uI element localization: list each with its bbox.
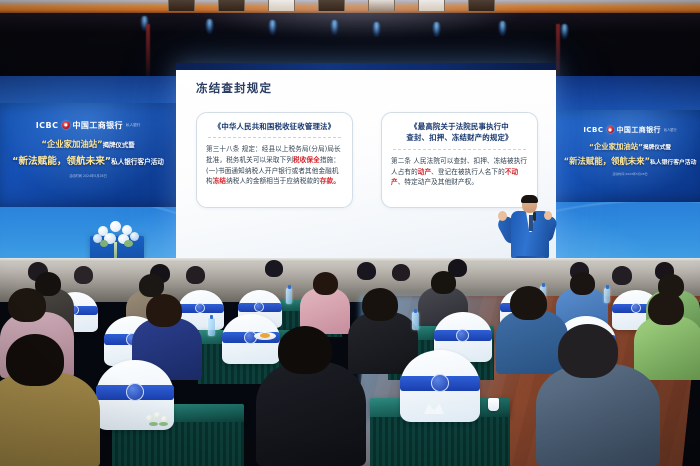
icbc-emblem-icon bbox=[607, 126, 614, 133]
audience-torso bbox=[0, 372, 100, 466]
ceiling-downlight bbox=[432, 22, 441, 37]
slide-card-tax-law: 《中华人民共和国税收征收管理法》 第三十八条 规定：经县以上税务局(分局)局长批… bbox=[196, 112, 353, 208]
right-event-banner: ICBC 中国工商银行 私人银行 “企业家加油站”揭牌仪式暨 “新法赋能，领航未… bbox=[548, 110, 700, 202]
audience-head bbox=[357, 262, 376, 280]
slide-top-bar bbox=[176, 63, 556, 70]
audience-head bbox=[558, 324, 618, 378]
body-run: 在被执行人名下的 bbox=[451, 168, 505, 176]
table-flower-posy bbox=[144, 412, 170, 426]
audience-head bbox=[431, 271, 456, 294]
icbc-sub-text: 私人银行 bbox=[664, 127, 677, 132]
banner-line-1-rest: 揭牌仪式暨 bbox=[643, 145, 671, 151]
banner-date: 活动时间 2024年5月28日 bbox=[69, 173, 107, 178]
water-bottle bbox=[208, 318, 215, 336]
ceiling-panel bbox=[218, 0, 245, 11]
foliage bbox=[149, 422, 158, 426]
banner-line-2-quoted: “新法赋能，领航未来” bbox=[12, 156, 111, 167]
audience-head bbox=[362, 288, 398, 321]
card-heading-line-1: 《最高院关于法院民事执行中 bbox=[391, 121, 528, 132]
ceiling-downlight bbox=[205, 19, 214, 34]
audience-head bbox=[186, 266, 205, 284]
card-heading: 《最高院关于法院民事执行中 查封、扣押、冻结财产的规定》 bbox=[391, 121, 528, 144]
audience-head bbox=[313, 272, 338, 295]
card-divider bbox=[208, 137, 341, 138]
icbc-chinese-text: 中国工商银行 bbox=[73, 120, 123, 131]
audience-head bbox=[510, 286, 547, 320]
icbc-chinese-text: 中国工商银行 bbox=[617, 125, 661, 135]
ceiling-truss bbox=[556, 24, 560, 84]
body-run-highlight: 税收保全 bbox=[293, 156, 320, 164]
audience-head bbox=[8, 288, 46, 322]
flower bbox=[130, 232, 139, 241]
paper-cup bbox=[488, 398, 499, 411]
slide-card-group: 《中华人民共和国税收征收管理法》 第三十八条 规定：经县以上税务局(分局)局长批… bbox=[196, 112, 538, 208]
chair-sash-ring bbox=[631, 303, 641, 313]
banner-line-1: “企业家加油站”揭牌仪式暨 bbox=[589, 141, 671, 152]
ceiling-panel bbox=[368, 0, 395, 11]
card-divider bbox=[393, 149, 526, 150]
audience-head bbox=[278, 326, 332, 374]
audience-head bbox=[612, 266, 632, 285]
chair-sash-ring bbox=[126, 383, 144, 401]
body-run-highlight: 冻结 bbox=[213, 177, 226, 185]
flower bbox=[146, 415, 153, 422]
icbc-sub-text: 私人银行 bbox=[126, 123, 140, 128]
flower-arrangement bbox=[92, 218, 142, 246]
ceiling-downlight bbox=[330, 20, 339, 35]
audience-head bbox=[74, 266, 93, 284]
card-body: 第二条 人民法院可以查封、扣押、冻结被执行人占有的动产、登记在被执行人名下的不动… bbox=[391, 156, 528, 188]
table-skirt bbox=[370, 417, 510, 466]
banner-line-2-quoted: “新法赋能，领航未来” bbox=[564, 156, 650, 166]
microphone bbox=[533, 212, 536, 221]
left-event-banner: ICBC 中国工商银行 私人银行 “企业家加油站”揭牌仪式暨 “新法赋能，领航未… bbox=[0, 103, 180, 207]
ceiling-truss bbox=[146, 24, 150, 84]
foliage bbox=[159, 422, 168, 426]
icbc-latin-text: ICBC bbox=[583, 126, 603, 134]
body-run: (一)书面通知纳税人开户银行或者其 bbox=[206, 167, 312, 175]
ceiling-downlight bbox=[560, 24, 569, 39]
banner-line-2-rest: 私人银行客户活动 bbox=[111, 158, 164, 166]
icbc-emblem-icon bbox=[62, 121, 70, 129]
ceiling-downlight bbox=[268, 20, 277, 35]
body-run: 动产及其他财产权。 bbox=[418, 178, 478, 186]
plate-food bbox=[260, 333, 270, 338]
foliage bbox=[124, 240, 133, 247]
banner-line-1-rest: 揭牌仪式暨 bbox=[103, 141, 135, 149]
speaker-left-hand bbox=[498, 211, 507, 221]
card-heading-line-2: 查封、扣押、冻结财产的规定》 bbox=[391, 132, 528, 143]
icbc-logo: ICBC 中国工商银行 私人银行 bbox=[583, 125, 676, 135]
icbc-latin-text: ICBC bbox=[36, 121, 59, 130]
audience-head bbox=[146, 294, 182, 327]
slide-card-court-rule: 《最高院关于法院民事执行中 查封、扣押、冻结财产的规定》 第二条 人民法院可以查… bbox=[381, 112, 538, 208]
projection-screen: 冻结查封规定 《中华人民共和国税收征收管理法》 第三十八条 规定：经县以上税务局… bbox=[176, 63, 556, 271]
slide-title: 冻结查封规定 bbox=[196, 80, 272, 96]
banner-date: 活动时间 2024年5月28日 bbox=[612, 172, 647, 176]
body-run: 下列 bbox=[280, 156, 293, 164]
chair-sash-ring bbox=[195, 303, 205, 313]
ceiling-panel bbox=[268, 0, 295, 11]
ceiling-panel bbox=[468, 0, 495, 11]
audience-torso bbox=[256, 362, 366, 466]
banner-line-2: “新法赋能，领航未来”私人银行客户活动 bbox=[564, 155, 697, 167]
water-bottle bbox=[412, 312, 419, 330]
audience-head bbox=[648, 292, 684, 325]
audience-torso bbox=[634, 316, 700, 380]
audience-head bbox=[570, 272, 595, 295]
speaker-right-hand bbox=[544, 211, 552, 220]
card-heading: 《中华人民共和国税收征收管理法》 bbox=[206, 121, 343, 132]
body-run: 纳税人的金额相当于 bbox=[226, 177, 286, 185]
body-run: 措施： bbox=[320, 156, 340, 164]
flower bbox=[110, 221, 121, 232]
body-run-highlight: 存款。 bbox=[320, 177, 340, 185]
banner-line-2-rest: 私人银行客户活动 bbox=[650, 160, 696, 166]
body-run: 、登记 bbox=[431, 168, 451, 176]
body-run: 、特定 bbox=[398, 178, 418, 186]
chair-sash-ring bbox=[456, 329, 469, 342]
ceiling-downlight bbox=[498, 21, 507, 36]
banner-line-1-quoted: “企业家加油站” bbox=[41, 139, 102, 149]
ceiling-panel bbox=[318, 0, 345, 11]
banner-line-1-quoted: “企业家加油站” bbox=[589, 142, 643, 151]
presentation-slide: 冻结查封规定 《中华人民共和国税收征收管理法》 第三十八条 规定：经县以上税务局… bbox=[176, 70, 556, 271]
flower bbox=[154, 412, 161, 419]
speaker-tie bbox=[529, 215, 533, 231]
water-bottle bbox=[604, 288, 610, 303]
chair-sash-ring bbox=[431, 374, 449, 392]
banner-line-2: “新法赋能，领航未来”私人银行客户活动 bbox=[12, 153, 164, 167]
body-run: 应纳税款的 bbox=[286, 177, 319, 185]
audience-head bbox=[6, 334, 64, 386]
body-run-highlight: 动产 bbox=[418, 168, 431, 176]
body-run: 第三十八条 规定：经县以上税务局 bbox=[206, 145, 309, 153]
ceiling-panel bbox=[168, 0, 195, 11]
card-body: 第三十八条 规定：经县以上税务局(分局)局长批准，税务机关可以采取下列税收保全措… bbox=[206, 144, 343, 187]
banner-line-1: “企业家加油站”揭牌仪式暨 bbox=[41, 138, 134, 150]
ceiling-downlight bbox=[372, 22, 381, 37]
ceiling-panel bbox=[418, 0, 445, 11]
audience-head bbox=[392, 264, 410, 281]
icbc-logo: ICBC 中国工商银行 私人银行 bbox=[36, 120, 141, 131]
audience-torso bbox=[536, 364, 660, 466]
body-run: 第二条 人民法院可以查封、扣押、 bbox=[391, 157, 494, 165]
foliage bbox=[100, 240, 108, 247]
speaker-hair bbox=[521, 195, 538, 203]
audience-head bbox=[265, 260, 283, 277]
conference-photo-scene: ICBC 中国工商银行 私人银行 “企业家加油站”揭牌仪式暨 “新法赋能，领航未… bbox=[0, 0, 700, 466]
water-bottle bbox=[286, 288, 292, 304]
chair-sash-ring bbox=[254, 302, 264, 312]
